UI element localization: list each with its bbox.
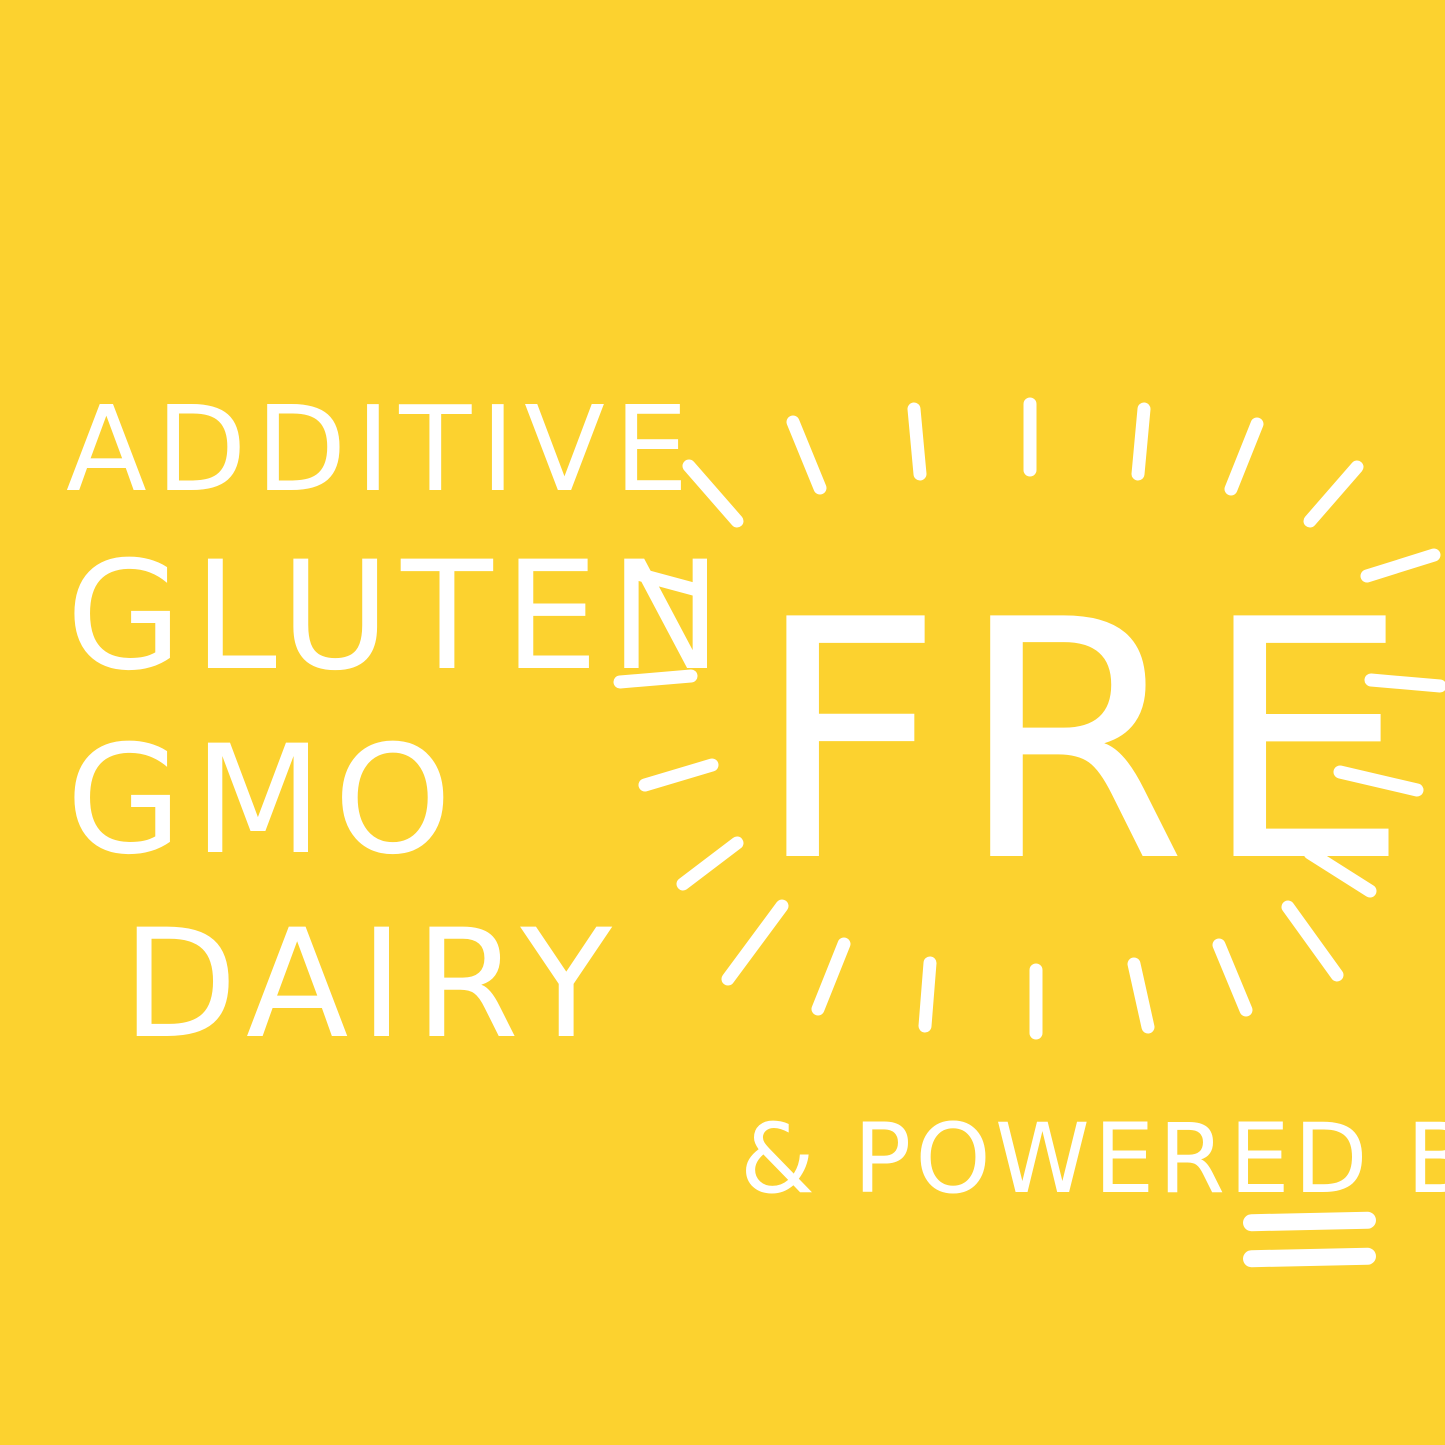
sunburst-ray-left-4 <box>683 843 737 884</box>
poster-artwork: ADDITIVEGLUTENGMODAIRY FREE & POWERED BY… <box>0 0 1445 1445</box>
sunburst-ray-bot-5 <box>1134 964 1148 1027</box>
poster-canvas: ADDITIVEGLUTENGMODAIRY FREE & POWERED BY… <box>0 0 1445 1445</box>
free-from-item-dairy: DAIRY <box>122 898 623 1072</box>
free-from-item-additive: ADDITIVE <box>66 380 697 518</box>
sunburst-ray-top-5 <box>1138 409 1144 474</box>
free-from-item-gmo: GMO <box>66 714 463 888</box>
sunburst-ray-top-2 <box>793 422 820 488</box>
free-from-item-gluten: GLUTEN <box>66 530 733 704</box>
sunburst-ray-bot-2 <box>818 944 844 1009</box>
sunburst-ray-top-3 <box>914 409 920 474</box>
free-wordmark: FREE <box>754 550 1445 934</box>
underline-strokes <box>1243 1212 1376 1268</box>
sunburst-ray-bot-3 <box>925 963 930 1026</box>
free-from-list: ADDITIVEGLUTENGMODAIRY <box>66 380 733 1072</box>
sunburst-ray-bot-6 <box>1219 945 1246 1010</box>
powered-by-air-tagline: & POWERED BY AIR <box>740 1103 1445 1215</box>
sunburst-ray-left-3 <box>645 765 712 785</box>
sunburst-ray-top-7 <box>1310 467 1357 521</box>
sunburst-ray-top-6 <box>1231 424 1257 489</box>
underline-stroke-top <box>1243 1212 1376 1232</box>
underline-stroke-bottom <box>1243 1248 1376 1268</box>
